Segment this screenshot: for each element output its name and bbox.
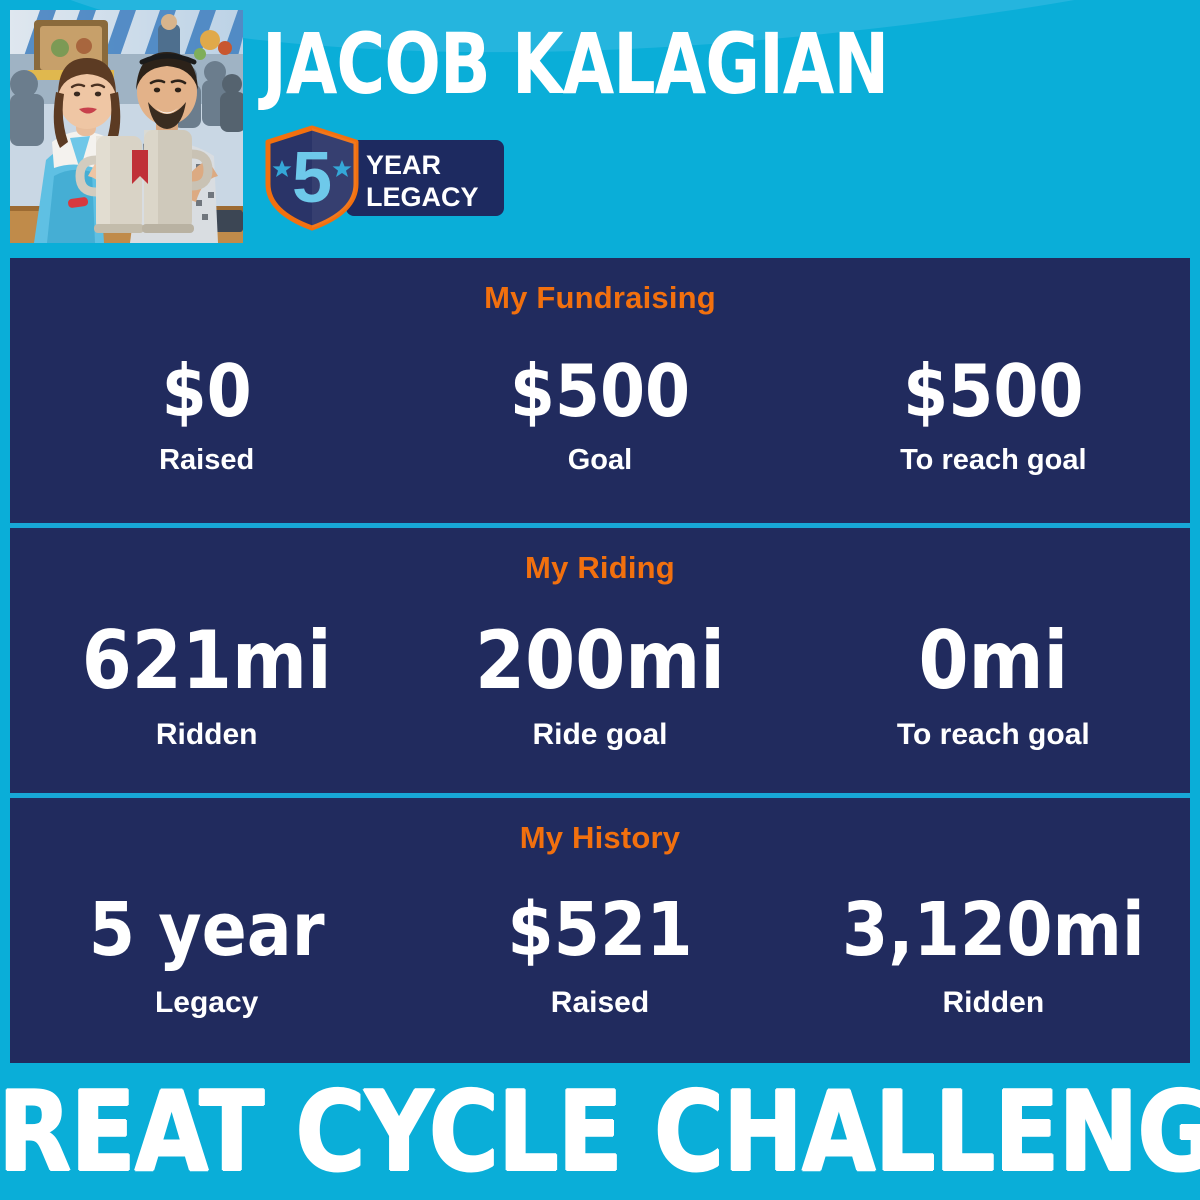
poster-canvas: JACOB KALAGIAN 5 YEAR LEGACY My Fundrais… — [0, 0, 1200, 1200]
stat-label: To reach goal — [797, 719, 1190, 751]
stat-to-reach-goal: $500 To reach goal — [797, 355, 1190, 475]
stat-legacy: 5 year Legacy — [10, 893, 403, 1019]
stat-label: Ridden — [797, 987, 1190, 1019]
legacy-badge: 5 YEAR LEGACY — [262, 122, 512, 234]
footer-band: GREAT CYCLE CHALLENGE — [0, 1063, 1200, 1200]
stat-value: 5 year — [10, 893, 403, 967]
stat-value: 200mi — [403, 621, 796, 701]
athlete-name: JACOB KALAGIAN — [262, 14, 878, 114]
stat-label: Raised — [403, 987, 796, 1019]
stat-label: Ridden — [10, 719, 403, 751]
stat-ride-goal: 200mi Ride goal — [403, 621, 796, 751]
section-title-history: My History — [10, 798, 1190, 856]
stat-raised: $0 Raised — [10, 355, 403, 475]
stat-label: Ride goal — [403, 719, 796, 751]
stat-value: $500 — [797, 355, 1190, 427]
stat-label: Goal — [403, 445, 796, 475]
badge-line1-text: YEAR — [366, 150, 441, 180]
section-title-riding: My Riding — [10, 528, 1190, 586]
event-wordmark: GREAT CYCLE CHALLENGE — [0, 1076, 1200, 1186]
stat-value: $521 — [403, 893, 796, 967]
stat-miles-to-reach-goal: 0mi To reach goal — [797, 621, 1190, 751]
stat-value: 0mi — [797, 621, 1190, 701]
badge-line2-text: LEGACY — [366, 182, 479, 212]
section-fundraising: My Fundraising $0 Raised $500 Goal $500 … — [10, 258, 1190, 523]
stat-row-riding: 621mi Ridden 200mi Ride goal 0mi To reac… — [10, 586, 1190, 793]
stat-row-history: 5 year Legacy $521 Raised 3,120mi Ridden — [10, 856, 1190, 1063]
stat-value: $500 — [403, 355, 796, 427]
stat-goal: $500 Goal — [403, 355, 796, 475]
stats-panel: My Fundraising $0 Raised $500 Goal $500 … — [10, 258, 1190, 1063]
section-riding: My Riding 621mi Ridden 200mi Ride goal 0… — [10, 528, 1190, 793]
stat-value: 3,120mi — [797, 893, 1190, 967]
stat-total-ridden: 3,120mi Ridden — [797, 893, 1190, 1019]
stat-total-raised: $521 Raised — [403, 893, 796, 1019]
stat-row-fundraising: $0 Raised $500 Goal $500 To reach goal — [10, 316, 1190, 523]
stat-ridden: 621mi Ridden — [10, 621, 403, 751]
section-title-fundraising: My Fundraising — [10, 258, 1190, 316]
stat-label: Legacy — [10, 987, 403, 1019]
stat-label: To reach goal — [797, 445, 1190, 475]
stat-value: 621mi — [10, 621, 403, 701]
stat-value: $0 — [10, 355, 403, 427]
section-history: My History 5 year Legacy $521 Raised 3,1… — [10, 798, 1190, 1063]
profile-photo — [10, 10, 243, 243]
stat-label: Raised — [10, 445, 403, 475]
svg-text:5: 5 — [292, 138, 332, 218]
